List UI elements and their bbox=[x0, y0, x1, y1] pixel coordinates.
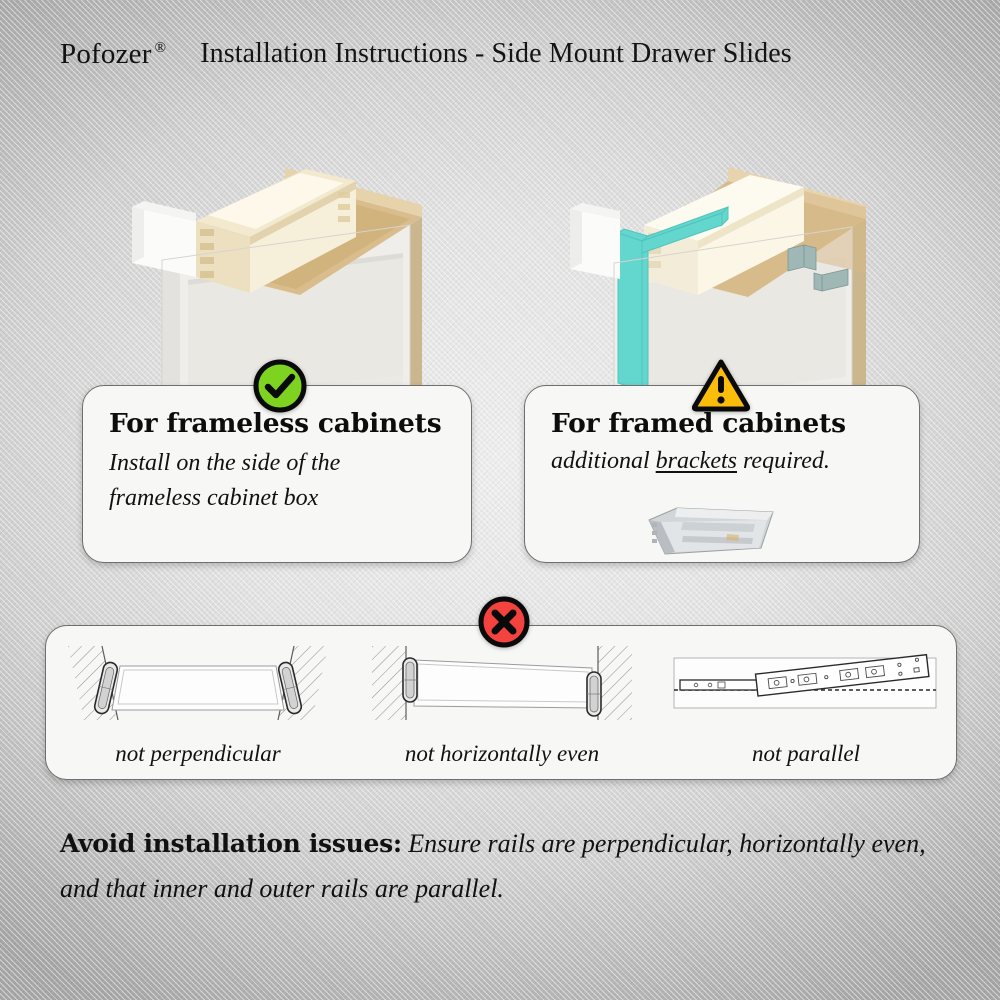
framed-card-body: additional brackets required. bbox=[551, 444, 893, 479]
skewed-rail-diagram bbox=[670, 640, 942, 731]
frameless-card-body-line1: Install on the side of the bbox=[109, 446, 445, 481]
x-icon bbox=[477, 595, 531, 649]
warning-item-not-perpendicular: not perpendicular bbox=[46, 626, 350, 781]
header: Pofozer® Installation Instructions - Sid… bbox=[0, 28, 1000, 80]
bracket-photo bbox=[635, 498, 785, 565]
check-icon bbox=[252, 358, 308, 414]
tilted-slides-diagram bbox=[62, 640, 334, 731]
framed-card-body-suffix: required. bbox=[737, 448, 830, 474]
warning-item-not-parallel: not parallel bbox=[654, 626, 958, 781]
framed-card-heading: For framed cabinets bbox=[551, 410, 893, 438]
frameless-card-heading: For frameless cabinets bbox=[109, 410, 445, 438]
framed-card-body-prefix: additional bbox=[551, 448, 656, 474]
footer-note-bold: Avoid installation issues: bbox=[60, 829, 402, 858]
warning-icon bbox=[692, 358, 750, 412]
warning-label-not-horizontally-even: not horizontally even bbox=[405, 741, 599, 767]
warning-label-not-perpendicular: not perpendicular bbox=[115, 741, 280, 767]
warning-item-not-horizontally-even: not horizontally even bbox=[350, 626, 654, 781]
footer-note: Avoid installation issues: Ensure rails … bbox=[60, 822, 950, 911]
framed-card-body-underlined: brackets bbox=[656, 448, 737, 474]
page-title: Installation Instructions - Side Mount D… bbox=[200, 38, 792, 70]
frameless-card-body: Install on the side of the frameless cab… bbox=[109, 446, 445, 516]
warning-label-not-parallel: not parallel bbox=[752, 741, 860, 767]
registered-trademark-icon: ® bbox=[155, 40, 167, 56]
infographic-page: Pofozer® Installation Instructions - Sid… bbox=[0, 0, 1000, 1000]
uneven-height-slides-diagram bbox=[366, 640, 638, 731]
frameless-card-body-line2: frameless cabinet box bbox=[109, 481, 445, 516]
brand-name: Pofozer® bbox=[60, 38, 166, 71]
